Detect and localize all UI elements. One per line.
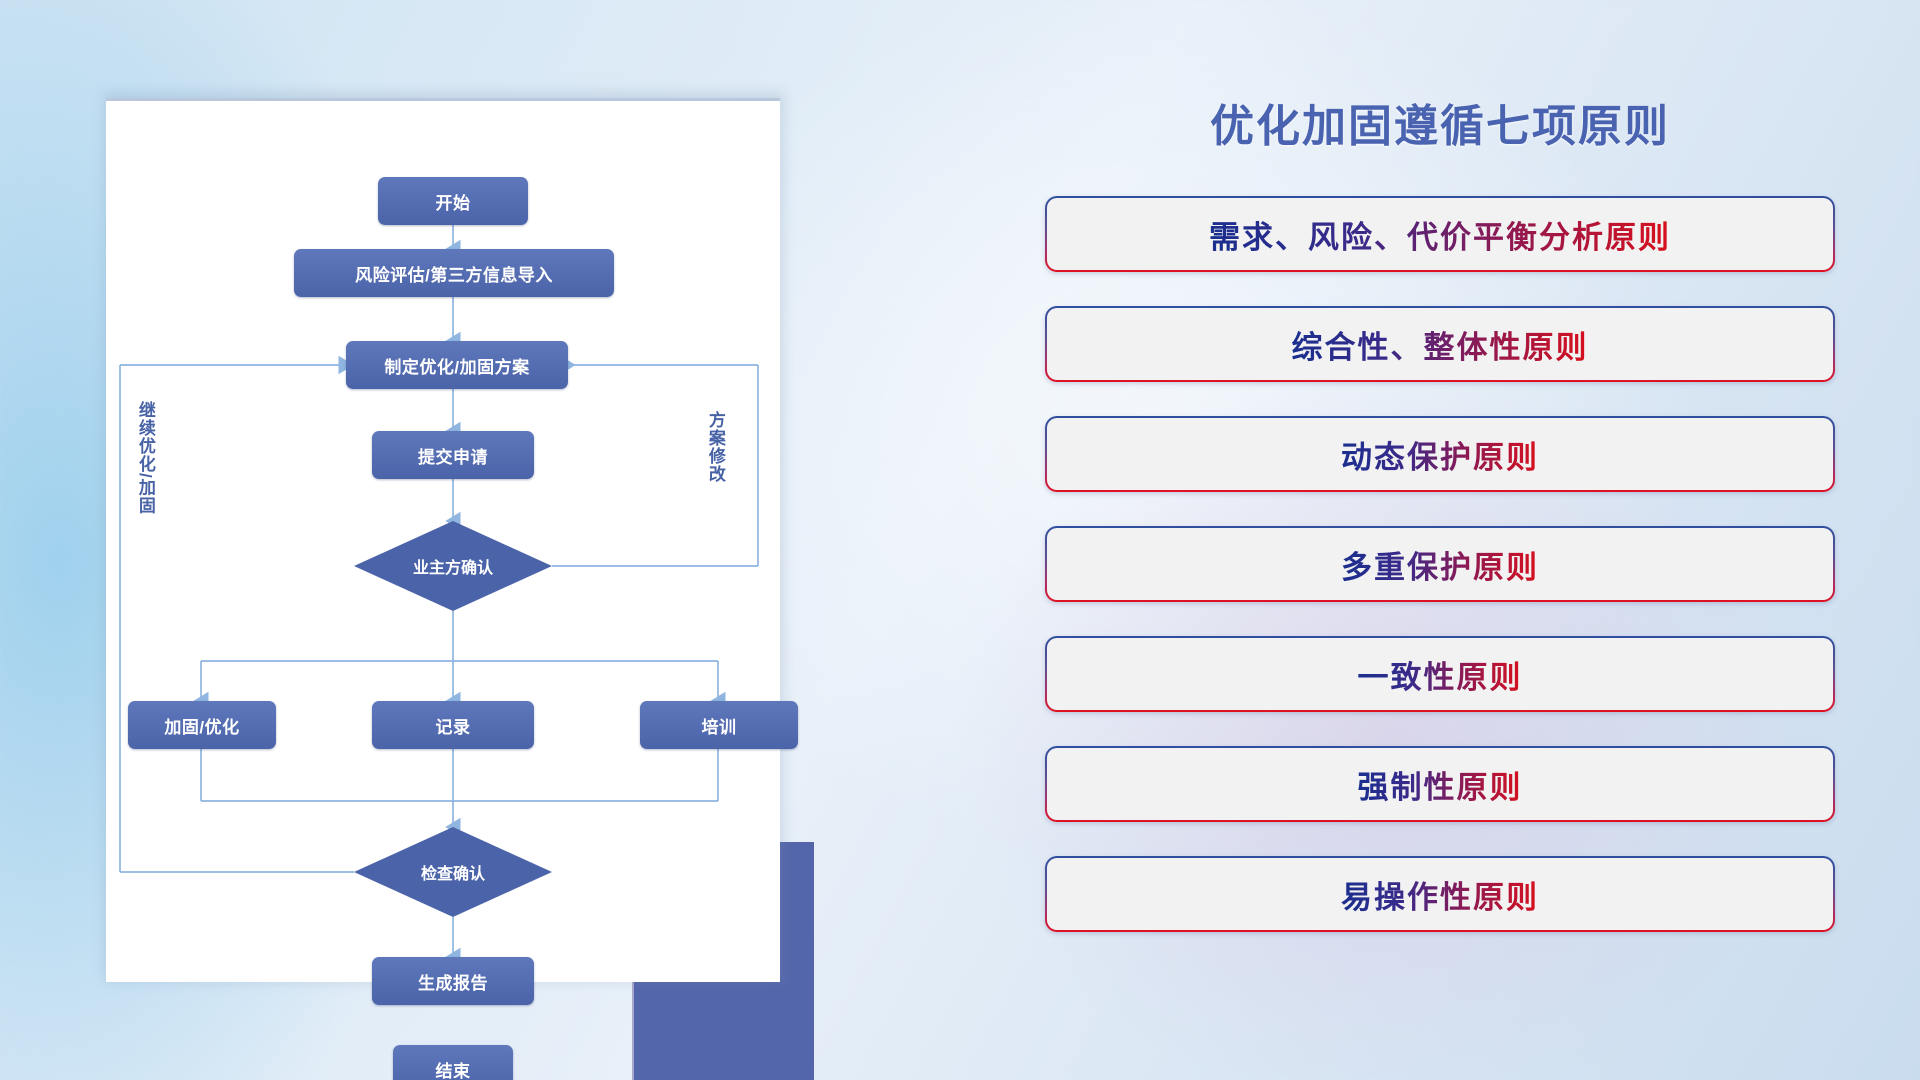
flow-node-label: 结束 bbox=[436, 1057, 471, 1080]
principle-label: 动态保护原则 bbox=[1341, 432, 1539, 477]
principle-label: 一致性原则 bbox=[1358, 652, 1523, 697]
flow-node-training[interactable]: 培训 bbox=[640, 701, 798, 749]
principle-card-inner: 强制性原则 bbox=[1047, 748, 1833, 820]
principle-label: 需求、风险、代价平衡分析原则 bbox=[1209, 212, 1671, 257]
principle-card[interactable]: 综合性、整体性原则 bbox=[1045, 306, 1835, 382]
flow-node-reinforce-optimize[interactable]: 加固/优化 bbox=[128, 701, 276, 749]
white-card: 开始 风险评估/第三方信息导入 制定优化/加固方案 提交申请 业主方确认 加固/… bbox=[106, 98, 780, 982]
flow-node-make-plan[interactable]: 制定优化/加固方案 bbox=[346, 341, 568, 389]
flow-node-label: 加固/优化 bbox=[164, 713, 239, 738]
flow-edge-label-left: 继续优化/加固 bbox=[136, 401, 154, 515]
flow-node-risk-assessment[interactable]: 风险评估/第三方信息导入 bbox=[294, 249, 614, 297]
principle-card-inner: 动态保护原则 bbox=[1047, 418, 1833, 490]
flow-node-label: 生成报告 bbox=[418, 969, 488, 994]
flow-node-label: 风险评估/第三方信息导入 bbox=[355, 261, 553, 286]
principle-card-inner: 易操作性原则 bbox=[1047, 858, 1833, 930]
principle-card[interactable]: 多重保护原则 bbox=[1045, 526, 1835, 602]
flow-node-label: 制定优化/加固方案 bbox=[384, 353, 529, 378]
flow-node-record[interactable]: 记录 bbox=[372, 701, 534, 749]
principle-card[interactable]: 易操作性原则 bbox=[1045, 856, 1835, 932]
flow-node-submit-application[interactable]: 提交申请 bbox=[372, 431, 534, 479]
principle-card[interactable]: 需求、风险、代价平衡分析原则 bbox=[1045, 196, 1835, 272]
flow-node-label: 记录 bbox=[436, 713, 471, 738]
flow-node-label: 业主方确认 bbox=[413, 554, 493, 578]
principle-label: 易操作性原则 bbox=[1341, 872, 1539, 917]
flow-node-end[interactable]: 结束 bbox=[393, 1045, 513, 1080]
flow-node-generate-report[interactable]: 生成报告 bbox=[372, 957, 534, 1005]
page-title: 优化加固遵循七项原则 bbox=[1020, 90, 1860, 154]
principle-label: 综合性、整体性原则 bbox=[1292, 322, 1589, 367]
flow-node-label: 提交申请 bbox=[418, 443, 488, 468]
principle-card[interactable]: 动态保护原则 bbox=[1045, 416, 1835, 492]
flowchart: 开始 风险评估/第三方信息导入 制定优化/加固方案 提交申请 业主方确认 加固/… bbox=[106, 101, 780, 982]
principle-card[interactable]: 强制性原则 bbox=[1045, 746, 1835, 822]
principle-label: 强制性原则 bbox=[1358, 762, 1523, 807]
principle-card-inner: 需求、风险、代价平衡分析原则 bbox=[1047, 198, 1833, 270]
principle-card-inner: 多重保护原则 bbox=[1047, 528, 1833, 600]
principle-card[interactable]: 一致性原则 bbox=[1045, 636, 1835, 712]
flow-node-label: 培训 bbox=[702, 713, 737, 738]
principle-card-inner: 综合性、整体性原则 bbox=[1047, 308, 1833, 380]
flowchart-panel: 开始 风险评估/第三方信息导入 制定优化/加固方案 提交申请 业主方确认 加固/… bbox=[104, 92, 804, 992]
principles-panel: 优化加固遵循七项原则 需求、风险、代价平衡分析原则 综合性、整体性原则 动态保护… bbox=[1020, 90, 1860, 1040]
principle-label: 多重保护原则 bbox=[1341, 542, 1539, 587]
flow-edge-label-right: 方案修改 bbox=[706, 411, 724, 483]
flow-node-label: 开始 bbox=[436, 189, 471, 214]
flow-node-start[interactable]: 开始 bbox=[378, 177, 528, 225]
flow-node-label: 检查确认 bbox=[421, 860, 485, 884]
principle-card-inner: 一致性原则 bbox=[1047, 638, 1833, 710]
